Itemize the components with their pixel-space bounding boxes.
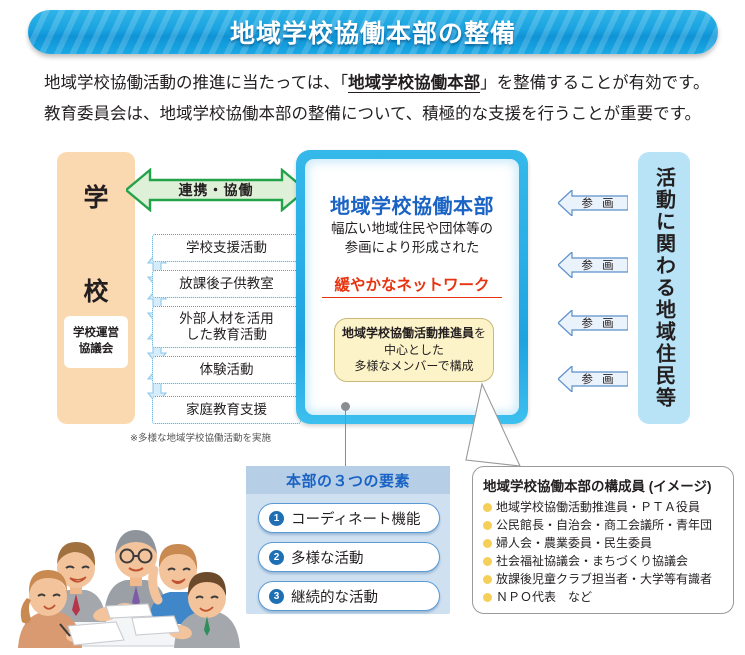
member-text: ＮＰＯ代表 など (496, 589, 592, 606)
element-number-2: 2 (269, 550, 284, 565)
element-row-3[interactable]: 3 継続的な活動 (258, 581, 440, 611)
members-title: 地域学校協働本部の構成員 (イメージ) (483, 475, 723, 495)
connector-line (345, 410, 347, 468)
element-label-2: 多様な活動 (291, 547, 364, 568)
activity-item-1: 学校支援活動 (152, 234, 301, 262)
member-list-item: ＮＰＯ代表 など (483, 589, 723, 606)
bullet-icon (483, 503, 492, 512)
activity-footnote: ※多様な地域学校協働活動を実施 (130, 430, 271, 444)
activity-item-4: 体験活動 (152, 356, 301, 384)
three-elements-heading: 本部の３つの要素 (246, 466, 450, 494)
meeting-illustration (8, 498, 246, 648)
residents-label: 活動に関わる地域住民等 (638, 152, 690, 424)
element-row-2[interactable]: 2 多様な活動 (258, 542, 440, 572)
page-banner: 地域学校協働本部の整備 (28, 10, 718, 54)
school-label: 学 校 (57, 178, 135, 308)
members-callout-pointer (460, 380, 580, 472)
promoter-keyword: 地域学校協働活動推進員 (342, 326, 474, 340)
bullet-icon (483, 575, 492, 584)
element-row-1[interactable]: 1 コーディネート機能 (258, 503, 440, 533)
element-label-1: コーディネート機能 (291, 508, 420, 529)
headquarters-members-note-line-2: 中心とした (384, 342, 444, 359)
lead-line-1-suffix: 」を整備することが有効です。 (480, 74, 709, 92)
headquarters-description: 幅広い地域住民や団体等の 参画により形成された (305, 219, 519, 257)
school-char-2: 校 (83, 272, 108, 308)
members-panel: 地域学校協働本部の構成員 (イメージ) 地域学校協働活動推進員・ＰＴＡ役員 公民… (472, 466, 734, 614)
school-char-1: 学 (83, 178, 108, 214)
activity-item-2: 放課後子供教室 (152, 270, 301, 298)
participation-arrow-label-2: 参 画 (558, 252, 628, 278)
headquarters-members-note-line-1: 地域学校協働活動推進員を (342, 325, 486, 342)
lead-line-2: 教育委員会は、地域学校協働本部の整備について、積極的な支援を行うことが重要です。 (44, 103, 724, 125)
member-text: 公民館長・自治会・商工会議所・青年団 (496, 517, 712, 534)
school-council-line-1: 学校運営 (73, 326, 119, 342)
member-text: 社会福祉協議会・まちづくり協議会 (496, 553, 688, 570)
activity-item-5: 家庭教育支援 (152, 396, 301, 424)
member-list-item: 公民館長・自治会・商工会議所・青年団 (483, 517, 723, 534)
participation-arrow-label-1: 参 画 (558, 190, 628, 216)
member-list-item: 放課後児童クラブ担当者・大学等有識者 (483, 571, 723, 588)
member-list-item: 社会福祉協議会・まちづくり協議会 (483, 553, 723, 570)
element-number-1: 1 (269, 511, 284, 526)
activity-item-3: 外部人材を活用 した教育活動 (152, 306, 301, 348)
member-list-item: 地域学校協働活動推進員・ＰＴＡ役員 (483, 499, 723, 516)
member-text: 放課後児童クラブ担当者・大学等有識者 (496, 571, 712, 588)
lead-keyword: 地域学校協働本部 (348, 74, 480, 93)
headquarters-members-note-box: 地域学校協働活動推進員を 中心とした 多様なメンバーで構成 (334, 318, 494, 382)
collaboration-arrow-label: 連携・協働 (126, 168, 306, 212)
member-text: 地域学校協働活動推進員・ＰＴＡ役員 (496, 499, 700, 516)
page-title: 地域学校協働本部の整備 (230, 14, 516, 50)
lead-line-1-prefix: 地域学校協働活動の推進に当たっては、「 (44, 74, 348, 92)
member-list-item: 婦人会・農業委員・民生委員 (483, 535, 723, 552)
headquarters-members-note-line-3: 多様なメンバーで構成 (354, 358, 473, 375)
headquarters-description-line-1: 幅広い地域住民や団体等の (305, 219, 519, 238)
bullet-icon (483, 557, 492, 566)
school-management-council-box: 学校運営 協議会 (64, 316, 128, 368)
headquarters-network-highlight: 緩やかなネットワーク (322, 273, 502, 298)
bullet-icon (483, 521, 492, 530)
headquarters-description-line-2: 参画により形成された (305, 238, 519, 257)
school-council-line-2: 協議会 (79, 342, 114, 358)
headquarters-title: 地域学校協働本部 (305, 190, 519, 219)
bullet-icon (483, 539, 492, 548)
promoter-particle: を (474, 326, 486, 340)
participation-arrow-label-3: 参 画 (558, 310, 628, 336)
element-number-3: 3 (269, 589, 284, 604)
lead-line-1: 地域学校協働活動の推進に当たっては、「地域学校協働本部」を整備することが有効です… (44, 72, 724, 94)
element-label-3: 継続的な活動 (291, 586, 378, 607)
member-text: 婦人会・農業委員・民生委員 (496, 535, 652, 552)
bullet-icon (483, 593, 492, 602)
lead-paragraph: 地域学校協働活動の推進に当たっては、「地域学校協働本部」を整備することが有効です… (44, 72, 724, 135)
